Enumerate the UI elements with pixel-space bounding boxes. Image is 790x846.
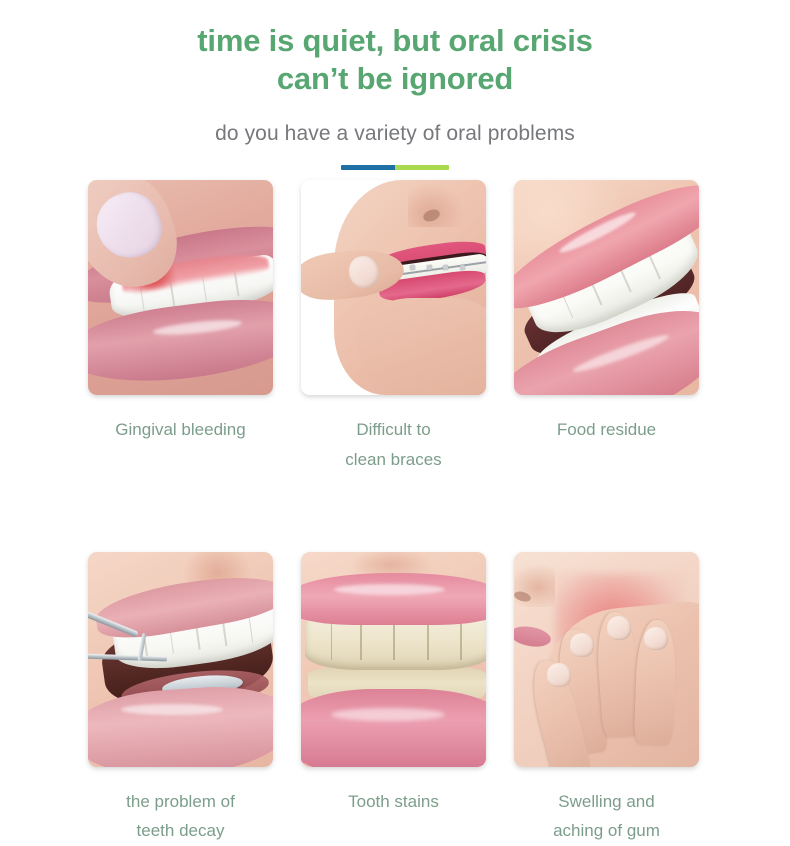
card-caption: Tooth stains — [301, 787, 486, 817]
page-header: time is quiet, but oral crisis can’t be … — [0, 0, 790, 170]
card-caption-line-1: Difficult to — [301, 415, 486, 445]
page-title-line-1: time is quiet, but oral crisis — [115, 22, 675, 60]
card-caption: Difficult to clean braces — [301, 415, 486, 475]
card-image-frame[interactable] — [301, 552, 486, 767]
problem-card-teeth-decay[interactable]: the problem of teeth decay — [88, 552, 273, 846]
page-title-line-2: can’t be ignored — [115, 60, 675, 98]
card-caption-line-1: Gingival bleeding — [88, 415, 273, 445]
divider-segment-green — [395, 165, 449, 170]
problem-card-tooth-stains[interactable]: Tooth stains — [301, 552, 486, 846]
page-subtitle: do you have a variety of oral problems — [0, 122, 790, 146]
card-caption-line-1: the problem of — [88, 787, 273, 817]
card-image-frame[interactable] — [514, 552, 699, 767]
photo-gingival-bleeding — [88, 180, 273, 395]
card-image-frame[interactable] — [301, 180, 486, 395]
card-caption-line-2: clean braces — [301, 445, 486, 475]
card-image-frame[interactable] — [514, 180, 699, 395]
photo-braces — [301, 180, 486, 395]
section-divider — [341, 165, 449, 170]
photo-swelling-gum — [514, 552, 699, 767]
card-caption-line-2: aching of gum — [514, 816, 699, 846]
card-caption: Swelling and aching of gum — [514, 787, 699, 846]
card-caption: Food residue — [514, 415, 699, 445]
card-image-frame[interactable] — [88, 180, 273, 395]
card-caption: Gingival bleeding — [88, 415, 273, 445]
oral-problems-grid: Gingival bleeding — [88, 180, 704, 846]
card-image-frame[interactable] — [88, 552, 273, 767]
divider-segment-blue — [341, 165, 395, 170]
problem-card-food-residue[interactable]: Food residue — [514, 180, 699, 475]
problem-card-gingival-bleeding[interactable]: Gingival bleeding — [88, 180, 273, 475]
card-caption-line-1: Food residue — [514, 415, 699, 445]
photo-teeth-decay — [88, 552, 273, 767]
card-caption-line-2: teeth decay — [88, 816, 273, 846]
photo-tooth-stains — [301, 552, 486, 767]
card-caption: the problem of teeth decay — [88, 787, 273, 846]
photo-food-residue — [514, 180, 699, 395]
card-caption-line-1: Swelling and — [514, 787, 699, 817]
problem-card-difficult-clean-braces[interactable]: Difficult to clean braces — [301, 180, 486, 475]
page-title: time is quiet, but oral crisis can’t be … — [115, 22, 675, 98]
problem-card-swelling-aching-gum[interactable]: Swelling and aching of gum — [514, 552, 699, 846]
card-caption-line-1: Tooth stains — [301, 787, 486, 817]
